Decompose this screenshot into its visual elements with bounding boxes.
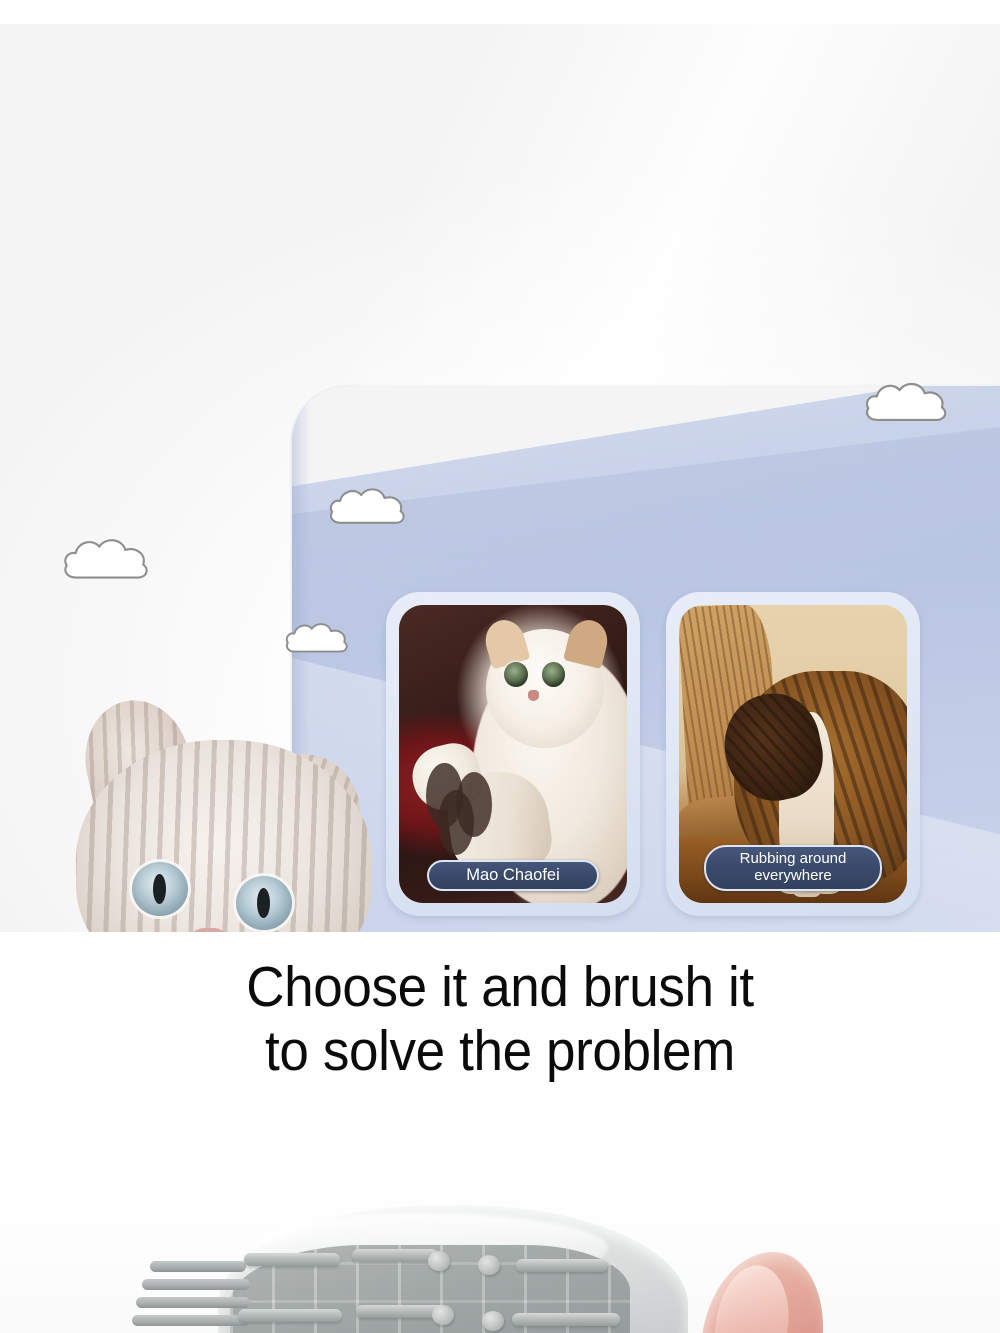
brush-pin — [516, 1259, 608, 1272]
brush-nub — [478, 1255, 500, 1275]
brush-nub — [432, 1305, 454, 1325]
cloud-icon — [60, 532, 158, 589]
kitten-ear-right — [563, 616, 611, 669]
cloud-icon — [862, 376, 956, 431]
card-label-pill: Rubbing around everywhere — [704, 845, 882, 891]
brush-nub — [482, 1311, 504, 1331]
problem-card-list: Mao Chaofei Rubbing around everywhere — [386, 592, 946, 918]
card-photo-white-kitten: Mao Chaofei — [399, 605, 627, 903]
brush-bristle — [150, 1261, 246, 1272]
card-label-line-1: Rubbing around — [740, 850, 847, 867]
problem-card-scratching[interactable]: Mao Chaofei — [386, 592, 640, 916]
brush-bristle — [136, 1297, 250, 1308]
headline-line-1: Choose it and brush it — [35, 955, 965, 1019]
brush-pin — [512, 1313, 620, 1326]
brush-bristle — [142, 1279, 250, 1290]
kitten-pupil-left — [153, 874, 166, 904]
headline-line-2: to solve the problem — [35, 1019, 965, 1083]
card-photo-tabby-cat: Rubbing around everywhere — [679, 605, 907, 903]
product-photo-section — [0, 1133, 1000, 1333]
cloud-icon — [326, 482, 414, 533]
problem-card-rubbing[interactable]: Rubbing around everywhere — [666, 592, 920, 916]
kitten-toe-pad — [438, 790, 474, 856]
kitten-pupil-right — [257, 888, 270, 918]
brush-nub — [428, 1251, 450, 1271]
headline: Choose it and brush it to solve the prob… — [35, 955, 965, 1084]
hero-top-strip — [0, 0, 1000, 24]
card-label-line-2: everywhere — [754, 867, 832, 884]
kitten-eye-right — [542, 662, 566, 687]
peeking-kitten-image — [58, 696, 388, 932]
kitten-nose — [192, 928, 226, 932]
card-label-pill: Mao Chaofei — [427, 860, 599, 891]
kitten-nose — [528, 690, 539, 701]
brush-pin — [352, 1249, 438, 1262]
product-banner-page: Mao Chaofei Rubbing around everywhere — [0, 0, 1000, 1333]
cloud-icon — [283, 618, 355, 660]
brush-bristle — [132, 1315, 250, 1326]
hero-section: Mao Chaofei Rubbing around everywhere — [0, 0, 1000, 932]
brush-pin — [238, 1309, 342, 1322]
brush-pin — [244, 1253, 340, 1266]
kitten-eye-left — [504, 662, 528, 687]
